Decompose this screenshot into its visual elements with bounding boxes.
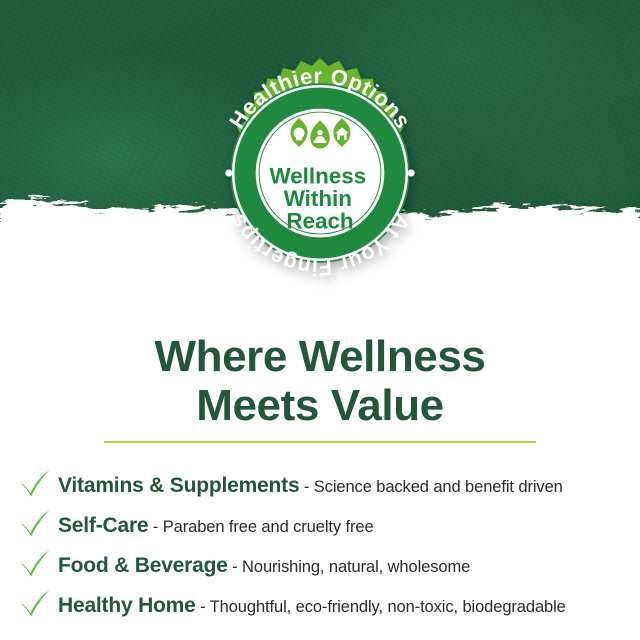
list-item-desc: - Nourishing, natural, wholesome [232,558,470,576]
checkmark-icon [18,588,52,618]
list-item-desc: - Thoughtful, eco-friendly, non-toxic, b… [200,598,566,616]
list-item-title: Vitamins & Supplements [58,474,299,497]
checkmark-icon [18,548,52,578]
list-item: Food & Beverage - Nourishing, natural, w… [18,542,632,582]
list-item-text: Food & Beverage - Nourishing, natural, w… [58,555,470,576]
list-item-title: Food & Beverage [58,554,228,577]
list-item-text: Self-Care - Paraben free and cruelty fre… [58,515,374,536]
divider-line [104,441,536,443]
list-item-desc: - Paraben free and cruelty free [153,518,374,536]
benefits-list: Vitamins & Supplements - Science backed … [18,462,632,622]
checkmark-icon [18,468,52,498]
list-item-title: Self-Care [58,514,148,537]
list-item: Self-Care - Paraben free and cruelty fre… [18,502,632,542]
list-item-title: Healthy Home [58,594,196,617]
list-item: Vitamins & Supplements - Science backed … [18,462,632,502]
list-item: Healthy Home - Thoughtful, eco-friendly,… [18,582,632,622]
checkmark-icon [18,508,52,538]
page-title: Where Wellness Meets Value [0,332,640,431]
badge-dot-right [408,169,415,176]
list-item-desc: - Science backed and benefit driven [304,478,563,496]
list-item-text: Healthy Home - Thoughtful, eco-friendly,… [58,595,566,616]
list-item-text: Vitamins & Supplements - Science backed … [58,475,563,496]
wellness-badge: Healthier Options At Your Fingertips [203,56,437,290]
promo-banner: Healthier Options At Your Fingertips [0,0,640,640]
badge-dot-left [225,169,232,176]
